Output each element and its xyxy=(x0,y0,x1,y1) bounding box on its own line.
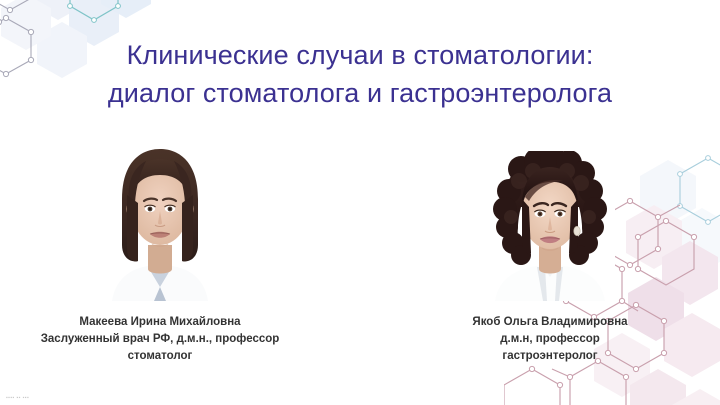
speaker-caption-yakob: Якоб Ольга Владимировна д.м.н, профессор… xyxy=(400,314,700,365)
speaker-specialty-yakob: гастроэнтеролог xyxy=(400,348,700,365)
speaker-block-makeeva: Макеева Ирина Михайловна Заслуженный вра… xyxy=(10,136,310,365)
slide-title: Клинические случаи в стоматологии: диало… xyxy=(0,36,720,112)
speaker-titles-makeeva: Заслуженный врач РФ, д.м.н., профессор xyxy=(10,331,310,348)
speaker-name-makeeva: Макеева Ирина Михайловна xyxy=(10,314,310,331)
slide-title-line-1: Клинические случаи в стоматологии: xyxy=(0,36,720,74)
portrait-illustration-makeeva xyxy=(96,141,224,301)
speaker-block-yakob: Якоб Ольга Владимировна д.м.н, профессор… xyxy=(400,136,700,365)
slide-title-line-2: диалог стоматолога и гастроэнтеролога xyxy=(0,74,720,112)
speaker-photo-makeeva xyxy=(10,136,310,301)
portrait-illustration-yakob xyxy=(485,151,615,301)
speaker-specialty-makeeva: стоматолог xyxy=(10,348,310,365)
speaker-titles-yakob: д.м.н, профессор xyxy=(400,331,700,348)
speaker-name-yakob: Якоб Ольга Владимировна xyxy=(400,314,700,331)
corner-artifact-text: ▪▪▪▪ ▪▪ ▪▪▪ xyxy=(6,395,29,401)
presentation-slide: Клинические случаи в стоматологии: диало… xyxy=(0,0,720,405)
speaker-photo-yakob xyxy=(400,136,700,301)
speaker-caption-makeeva: Макеева Ирина Михайловна Заслуженный вра… xyxy=(10,314,310,365)
